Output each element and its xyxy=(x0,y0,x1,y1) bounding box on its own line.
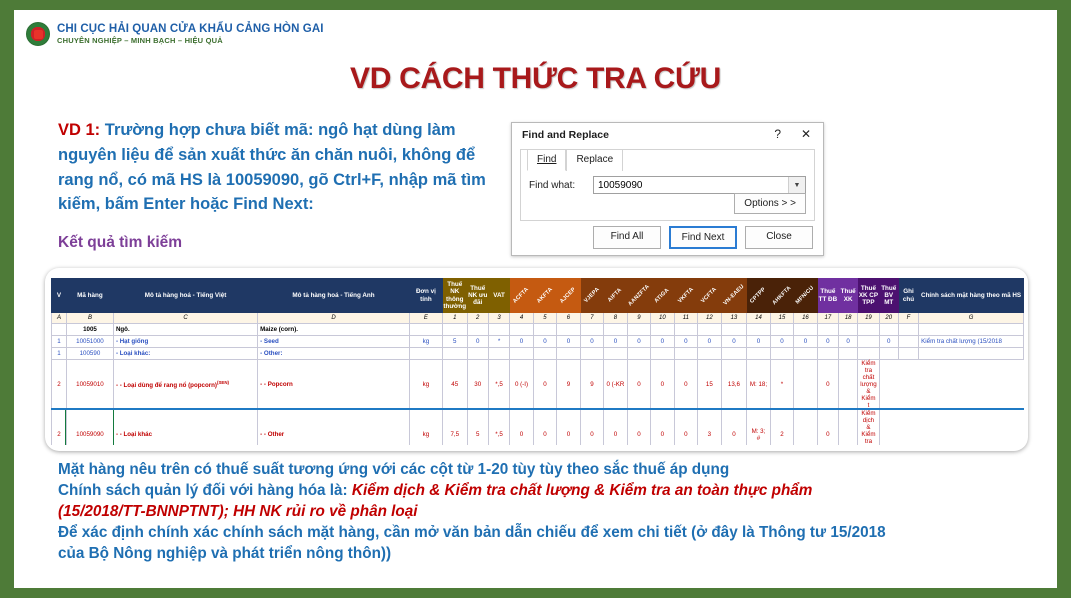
dialog-tabs: Find Replace xyxy=(527,149,623,171)
spreadsheet-screenshot: VMã hàngMô tả hàng hoá - Tiếng ViệtMô tả… xyxy=(45,268,1028,451)
column-header-label: VCFTA xyxy=(700,286,718,304)
table-cell[interactable]: 15 xyxy=(698,360,721,410)
table-cell[interactable] xyxy=(510,324,533,336)
table-cell[interactable]: - - Loại dùng để rang nổ (popcorn)(SEN) xyxy=(113,360,257,410)
table-cell[interactable]: 0 xyxy=(817,336,838,348)
column-index-cell: 12 xyxy=(698,313,721,324)
table-cell[interactable]: kg xyxy=(409,360,442,410)
column-header-label: AHKFTA xyxy=(771,285,792,306)
table-cell[interactable]: 0 xyxy=(747,336,770,348)
column-header-m-h-ng[interactable]: Mã hàng xyxy=(66,279,113,313)
column-header-label: AKFTA xyxy=(536,286,554,304)
column-header-m-t-h-ng-ho-ti-ng-anh[interactable]: Mô tả hàng hoá - Tiếng Anh xyxy=(258,279,410,313)
summary-line-2: Chính sách quản lý đối với hàng hóa là: … xyxy=(58,481,1028,502)
dialog-footer: Find All Find Next Close xyxy=(593,226,813,249)
column-index-cell: 1 xyxy=(442,313,467,324)
table-cell[interactable]: 0 xyxy=(533,336,556,348)
column-index-cell: G xyxy=(919,313,1024,324)
table-cell[interactable]: 0 xyxy=(794,336,817,348)
tab-find[interactable]: Find xyxy=(527,149,566,171)
column-index-cell: 17 xyxy=(817,313,838,324)
column-header-n-v-t-nh[interactable]: Đơn vị tính xyxy=(409,279,442,313)
summary-line-1: Mặt hàng nêu trên có thuế suất tương ứng… xyxy=(58,460,1028,481)
table-cell[interactable]: 0 xyxy=(674,360,697,410)
table-cell[interactable] xyxy=(409,324,442,336)
table-cell[interactable] xyxy=(604,324,627,336)
column-header-mfn-cu[interactable]: MFN/CU xyxy=(794,279,817,313)
table-cell[interactable] xyxy=(794,360,817,410)
table-cell[interactable]: 3 xyxy=(698,410,721,446)
column-header-v[interactable]: V xyxy=(52,279,67,313)
table-cell[interactable]: 0 (-I) xyxy=(510,360,533,410)
table-cell[interactable]: 0 xyxy=(627,410,650,446)
column-header-vn-eaeu[interactable]: VN-EAEU xyxy=(721,279,747,313)
column-header-label: MFN/CU xyxy=(795,285,816,306)
table-cell[interactable] xyxy=(510,348,533,360)
table-cell[interactable] xyxy=(770,324,793,336)
table-cell[interactable]: Maize (corn). xyxy=(258,324,410,336)
find-next-button[interactable]: Find Next xyxy=(669,226,737,249)
table-cell[interactable]: 0 xyxy=(510,410,533,446)
table-cell[interactable] xyxy=(467,324,488,336)
table-cell[interactable]: 0 xyxy=(557,336,580,348)
table-cell[interactable]: 0 xyxy=(533,410,556,446)
column-header-ch-nh-s-ch-m-t-h-ng-theo-m-hs[interactable]: Chính sách mặt hàng theo mã HS xyxy=(919,279,1024,313)
column-header-thu-xk-cp-tpp[interactable]: Thuế XK CP TPP xyxy=(858,279,879,313)
table-cell[interactable] xyxy=(557,324,580,336)
summary-paragraph: Mặt hàng nêu trên có thuế suất tương ứng… xyxy=(58,460,1028,565)
table-cell[interactable]: 9 xyxy=(557,360,580,410)
find-what-label: Find what: xyxy=(529,180,593,191)
column-index-cell: 11 xyxy=(674,313,697,324)
summary-line-3: (15/2018/TT-BNNPTNT); HH NK rủi ro về ph… xyxy=(58,502,1028,523)
example-text: Trường hợp chưa biết mã: ngô hạt dùng là… xyxy=(58,121,486,213)
table-cell[interactable]: 9 xyxy=(580,360,603,410)
close-icon[interactable]: ✕ xyxy=(801,127,811,141)
table-cell[interactable]: * xyxy=(488,336,509,348)
table-cell[interactable] xyxy=(879,324,898,336)
table-cell[interactable]: 100590 xyxy=(66,348,113,360)
table-cell[interactable]: 0 xyxy=(674,410,697,446)
table-cell[interactable]: 30 xyxy=(467,360,488,410)
table-cell[interactable]: 2 xyxy=(770,410,793,446)
column-index-row: ABCDE1234567891011121314151617181920FG xyxy=(52,313,1024,324)
column-index-cell: 13 xyxy=(721,313,747,324)
column-header-acfta[interactable]: ACFTA xyxy=(510,279,533,313)
column-index-cell: E xyxy=(409,313,442,324)
column-index-cell: 14 xyxy=(747,313,770,324)
table-cell[interactable] xyxy=(879,348,898,360)
table-cell[interactable]: - - Popcorn xyxy=(258,360,410,410)
options-button[interactable]: Options > > xyxy=(734,193,806,214)
column-header-thu-nk-th-ng-th-ng[interactable]: Thuế NK thông thường xyxy=(442,279,467,313)
table-cell[interactable]: 0 xyxy=(580,336,603,348)
column-header-thu-bv-mt[interactable]: Thuế BV MT xyxy=(879,279,898,313)
tab-find-label: Find xyxy=(537,154,556,165)
table-cell[interactable] xyxy=(858,348,879,360)
table-cell[interactable]: Ngô. xyxy=(113,324,257,336)
close-button[interactable]: Close xyxy=(745,226,813,249)
table-cell[interactable] xyxy=(674,348,697,360)
column-index-cell: 5 xyxy=(533,313,556,324)
column-index-cell: 10 xyxy=(651,313,674,324)
table-cell[interactable]: 0 xyxy=(817,410,838,446)
table-cell[interactable]: 10059090 xyxy=(66,410,113,446)
help-icon[interactable]: ? xyxy=(774,127,781,141)
table-row[interactable]: 110051000- Hạt giống- Seedkg50*000000000… xyxy=(52,336,1024,348)
table-cell[interactable] xyxy=(698,348,721,360)
table-cell[interactable] xyxy=(794,348,817,360)
find-input-combo[interactable]: 10059090 ▼ xyxy=(593,176,806,194)
find-all-button[interactable]: Find All xyxy=(593,226,661,249)
table-cell[interactable] xyxy=(919,348,1024,360)
column-header-label: VN-EAEU xyxy=(722,284,745,307)
column-index-cell: 2 xyxy=(467,313,488,324)
column-header-label: ACFTA xyxy=(512,286,530,304)
column-index-cell: 9 xyxy=(627,313,650,324)
column-header-label: CPTPP xyxy=(749,286,767,304)
find-and-replace-dialog: Find and Replace ? ✕ Find Replace Find w… xyxy=(511,122,824,256)
tab-replace[interactable]: Replace xyxy=(566,149,623,171)
table-cell[interactable]: 0 xyxy=(627,360,650,410)
table-row[interactable]: 210059090- - Loại khác- - Otherkg7,55*,5… xyxy=(52,410,1024,446)
find-input-value: 10059090 xyxy=(598,180,643,191)
table-row[interactable]: 1005Ngô.Maize (corn). xyxy=(52,324,1024,336)
column-index-cell: 8 xyxy=(604,313,627,324)
table-header-row: VMã hàngMô tả hàng hoá - Tiếng ViệtMô tả… xyxy=(52,279,1024,313)
table-row[interactable]: 1100590- Loại khác:- Other: xyxy=(52,348,1024,360)
table-cell[interactable] xyxy=(651,324,674,336)
table-cell[interactable] xyxy=(721,348,747,360)
brand-text: CHI CỤC HẢI QUAN CỬA KHẨU CẢNG HÒN GAI C… xyxy=(57,23,324,46)
table-cell[interactable]: 10059010 xyxy=(66,360,113,410)
table-cell[interactable]: *,5 xyxy=(488,360,509,410)
column-index-cell: D xyxy=(258,313,410,324)
table-cell[interactable] xyxy=(721,324,747,336)
table-row[interactable]: 210059010- - Loại dùng để rang nổ (popco… xyxy=(52,360,1024,410)
table-cell[interactable]: 13,6 xyxy=(721,360,747,410)
table-cell[interactable] xyxy=(467,348,488,360)
chevron-down-icon[interactable]: ▼ xyxy=(788,177,805,193)
table-cell[interactable] xyxy=(858,324,879,336)
column-header-label: VKFTA xyxy=(677,286,695,304)
table-cell[interactable]: Kiểm dịch & Kiểm tra chất lư xyxy=(858,410,879,446)
table-cell[interactable]: 5 xyxy=(467,410,488,446)
column-header-thu-tt-b[interactable]: Thuế TT ĐB xyxy=(817,279,838,313)
table-cell[interactable] xyxy=(839,410,858,446)
table-cell[interactable] xyxy=(627,348,650,360)
table-cell[interactable]: 0 xyxy=(721,410,747,446)
summary-line-2-emphasis: Kiểm dịch & Kiểm tra chất lượng & Kiểm t… xyxy=(352,482,813,499)
example-label: VD 1: xyxy=(58,121,100,139)
table-cell[interactable] xyxy=(770,348,793,360)
table-cell[interactable]: 0 xyxy=(580,410,603,446)
table-cell[interactable] xyxy=(488,324,509,336)
column-index-cell: 15 xyxy=(770,313,793,324)
cell-superscript: (SEN) xyxy=(217,380,229,385)
dialog-body: Find Replace Find what: 10059090 ▼ Optio… xyxy=(520,149,815,221)
table-cell[interactable]: 5 xyxy=(442,336,467,348)
table-cell[interactable]: 0 xyxy=(467,336,488,348)
table-cell[interactable] xyxy=(839,324,858,336)
table-cell[interactable] xyxy=(674,324,697,336)
table-cell[interactable]: 1005 xyxy=(66,324,113,336)
table-cell[interactable]: 2 xyxy=(52,410,67,446)
column-header-m-t-h-ng-ho-ti-ng-vi-t[interactable]: Mô tả hàng hoá - Tiếng Việt xyxy=(113,279,257,313)
table-cell[interactable] xyxy=(442,324,467,336)
table-cell[interactable]: 7,5 xyxy=(442,410,467,446)
table-cell[interactable]: 0 xyxy=(770,336,793,348)
column-index-cell: 20 xyxy=(879,313,898,324)
brand-slogan: CHUYÊN NGHIỆP – MINH BẠCH – HIỆU QUẢ xyxy=(57,37,324,46)
table-cell[interactable]: M: 3; # xyxy=(747,410,770,446)
column-header-vat[interactable]: VAT xyxy=(488,279,509,313)
summary-line-2-pre: Chính sách quản lý đối với hàng hóa là: xyxy=(58,482,352,499)
table-cell[interactable] xyxy=(839,348,858,360)
table-cell[interactable]: kg xyxy=(409,410,442,446)
table-cell[interactable]: - Other: xyxy=(258,348,410,360)
column-index-cell: 19 xyxy=(858,313,879,324)
brand-header: CHI CỤC HẢI QUAN CỬA KHẨU CẢNG HÒN GAI C… xyxy=(26,22,324,46)
summary-line-4: Để xác định chính xác chính sách mặt hàn… xyxy=(58,523,1028,544)
find-what-row: Find what: 10059090 ▼ xyxy=(529,176,806,194)
table-cell[interactable] xyxy=(557,348,580,360)
dialog-titlebar: Find and Replace ? ✕ xyxy=(512,123,823,147)
table-cell[interactable]: - Seed xyxy=(258,336,410,348)
column-index-cell: 6 xyxy=(557,313,580,324)
table-cell[interactable]: * xyxy=(770,360,793,410)
column-header-label: AIFTA xyxy=(607,287,624,304)
table-cell[interactable] xyxy=(651,348,674,360)
column-header-thu-xk[interactable]: Thuế XK xyxy=(839,279,858,313)
table-cell[interactable]: 0 xyxy=(533,360,556,410)
table-cell[interactable]: 45 xyxy=(442,360,467,410)
table-cell[interactable] xyxy=(898,348,918,360)
spreadsheet-viewport[interactable]: VMã hàngMô tả hàng hoá - Tiếng ViệtMô tả… xyxy=(51,278,1024,445)
table-cell[interactable]: 0 xyxy=(651,360,674,410)
table-cell[interactable] xyxy=(409,348,442,360)
table-cell[interactable]: - - Loại khác xyxy=(113,410,257,446)
column-index-cell: 3 xyxy=(488,313,509,324)
table-cell[interactable]: 10051000 xyxy=(66,336,113,348)
table-cell[interactable]: 0 xyxy=(557,410,580,446)
table-cell[interactable] xyxy=(839,360,858,410)
table-cell[interactable]: 0 xyxy=(651,410,674,446)
table-cell[interactable] xyxy=(488,348,509,360)
column-header-vkfta[interactable]: VKFTA xyxy=(674,279,697,313)
table-cell[interactable]: 1 xyxy=(52,348,67,360)
column-index-cell: A xyxy=(52,313,67,324)
table-cell[interactable] xyxy=(817,324,838,336)
summary-line-5: của Bộ Nông nghiệp và phát triển nông th… xyxy=(58,544,1028,565)
column-header-thu-nk-u-i[interactable]: Thuế NK ưu đãi xyxy=(467,279,488,313)
page-title: VD CÁCH THỨC TRA CỨU xyxy=(14,62,1057,96)
column-header-label: AJCEP xyxy=(559,286,577,304)
column-index-cell: 7 xyxy=(580,313,603,324)
table-cell[interactable] xyxy=(794,324,817,336)
table-cell[interactable] xyxy=(898,336,918,348)
table-cell[interactable] xyxy=(580,348,603,360)
table-cell[interactable]: Kiểm tra chất lượng (15/2018 xyxy=(919,336,1024,348)
table-cell[interactable]: 1 xyxy=(52,336,67,348)
table-cell[interactable]: - - Other xyxy=(258,410,410,446)
table-cell[interactable]: 0 xyxy=(510,336,533,348)
table-cell[interactable]: - Hạt giống xyxy=(113,336,257,348)
column-header-label: ATIGA xyxy=(654,287,671,304)
example-paragraph: VD 1: Trường hợp chưa biết mã: ngô hạt d… xyxy=(58,118,508,217)
tariff-table: VMã hàngMô tả hàng hoá - Tiếng ViệtMô tả… xyxy=(51,278,1024,445)
table-cell[interactable]: *,5 xyxy=(488,410,509,446)
column-header-vjepa[interactable]: VJEPA xyxy=(580,279,603,313)
table-cell[interactable]: M: 18; xyxy=(747,360,770,410)
customs-emblem-icon xyxy=(26,22,50,46)
column-index-cell: 16 xyxy=(794,313,817,324)
column-header-ajcep[interactable]: AJCEP xyxy=(557,279,580,313)
table-cell[interactable] xyxy=(442,348,467,360)
table-cell[interactable] xyxy=(604,348,627,360)
table-cell[interactable] xyxy=(747,348,770,360)
column-header-ghi-ch[interactable]: Ghi chú xyxy=(898,279,918,313)
table-cell[interactable] xyxy=(747,324,770,336)
table-cell[interactable]: 0 xyxy=(839,336,858,348)
column-header-ahkfta[interactable]: AHKFTA xyxy=(770,279,793,313)
table-cell[interactable] xyxy=(794,410,817,446)
table-cell[interactable]: 2 xyxy=(52,360,67,410)
column-header-vcfta[interactable]: VCFTA xyxy=(698,279,721,313)
column-header-label: AANZFTA xyxy=(627,284,651,308)
table-cell[interactable]: 0 xyxy=(698,336,721,348)
table-cell[interactable]: 0 xyxy=(879,336,898,348)
table-cell[interactable] xyxy=(817,348,838,360)
column-header-cptpp[interactable]: CPTPP xyxy=(747,279,770,313)
column-header-label: VJEPA xyxy=(583,287,601,305)
table-cell[interactable]: 0 xyxy=(627,336,650,348)
column-header-aanzfta[interactable]: AANZFTA xyxy=(627,279,650,313)
table-cell[interactable]: 0 xyxy=(721,336,747,348)
table-cell[interactable]: - Loại khác: xyxy=(113,348,257,360)
slide-canvas: CHI CỤC HẢI QUAN CỬA KHẨU CẢNG HÒN GAI C… xyxy=(14,10,1057,588)
table-cell[interactable]: 0 (-KR xyxy=(604,360,627,410)
brand-title: CHI CỤC HẢI QUAN CỬA KHẨU CẢNG HÒN GAI xyxy=(57,23,324,36)
table-cell[interactable]: 0 xyxy=(817,360,838,410)
column-index-cell: F xyxy=(898,313,918,324)
table-cell[interactable] xyxy=(533,348,556,360)
table-cell[interactable] xyxy=(858,336,879,348)
tab-replace-label: Replace xyxy=(576,154,613,165)
table-cell[interactable]: Kiểm tra chất lượng & Kiểm t xyxy=(858,360,879,410)
table-cell[interactable] xyxy=(698,324,721,336)
table-cell[interactable] xyxy=(919,324,1024,336)
dialog-title: Find and Replace xyxy=(522,129,609,141)
table-cell[interactable] xyxy=(52,324,67,336)
column-index-cell: 4 xyxy=(510,313,533,324)
column-header-aifta[interactable]: AIFTA xyxy=(604,279,627,313)
table-cell[interactable]: 0 xyxy=(604,336,627,348)
search-result-heading: Kết quả tìm kiếm xyxy=(58,234,182,252)
column-index-cell: B xyxy=(66,313,113,324)
column-header-atiga[interactable]: ATIGA xyxy=(651,279,674,313)
column-header-akfta[interactable]: AKFTA xyxy=(533,279,556,313)
column-index-cell: 18 xyxy=(839,313,858,324)
table-cell[interactable]: kg xyxy=(409,336,442,348)
table-cell[interactable]: 0 xyxy=(604,410,627,446)
table-cell[interactable] xyxy=(533,324,556,336)
table-cell[interactable]: 0 xyxy=(674,336,697,348)
table-cell[interactable] xyxy=(627,324,650,336)
table-cell[interactable] xyxy=(898,324,918,336)
table-cell[interactable]: 0 xyxy=(651,336,674,348)
column-index-cell: C xyxy=(113,313,257,324)
table-cell[interactable] xyxy=(580,324,603,336)
